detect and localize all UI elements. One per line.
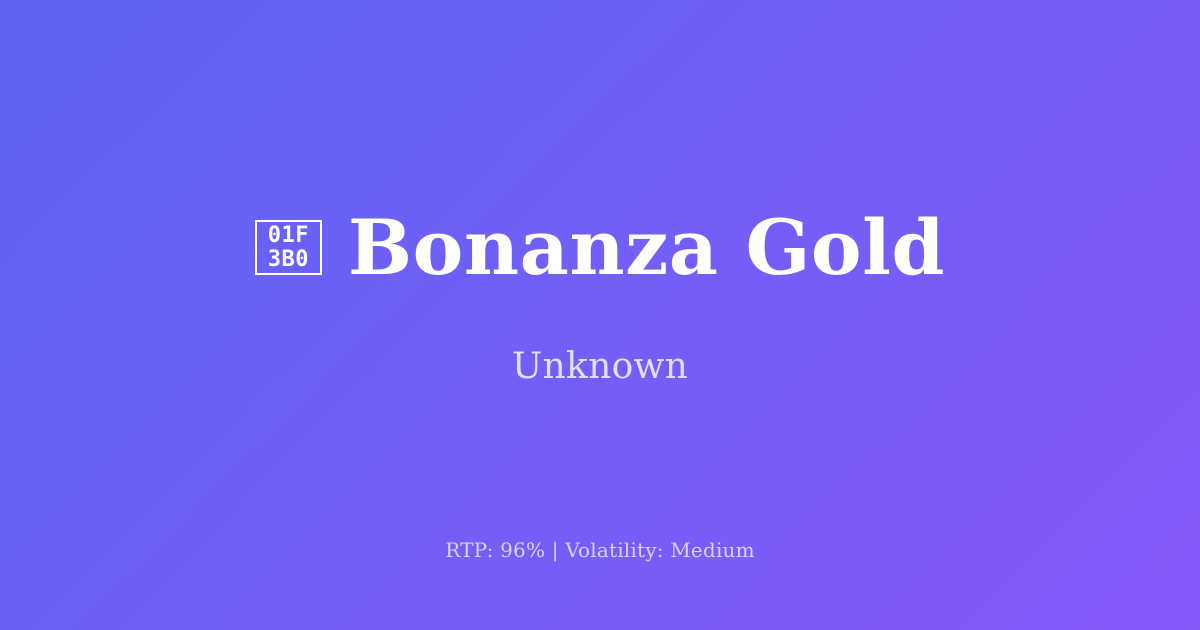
- game-provider: Unknown: [512, 346, 688, 387]
- slot-machine-icon-codepoint-high: 01F: [268, 224, 309, 248]
- game-meta: RTP: 96% | Volatility: Medium: [0, 538, 1200, 562]
- hero-block: 01F 3B0 Bonanza Gold Unknown: [0, 0, 1200, 630]
- game-title: Bonanza Gold: [348, 210, 945, 286]
- game-preview-card: 01F 3B0 Bonanza Gold Unknown RTP: 96% | …: [0, 0, 1200, 630]
- slot-machine-icon-codepoint-low: 3B0: [268, 248, 309, 272]
- title-row: 01F 3B0 Bonanza Gold: [255, 210, 945, 286]
- slot-machine-icon: 01F 3B0: [255, 220, 322, 275]
